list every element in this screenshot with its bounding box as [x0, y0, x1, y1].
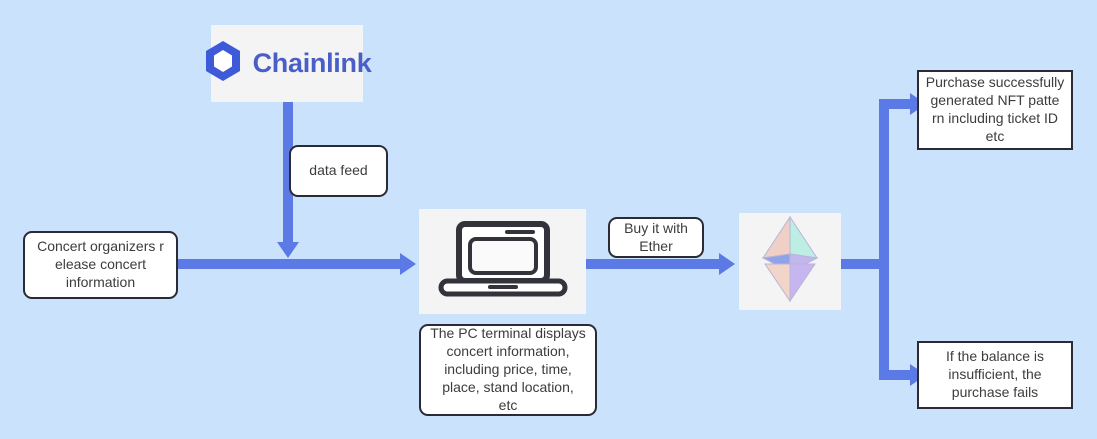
node-data-feed[interactable]: data feed — [289, 145, 388, 197]
pc-terminal-caption-label: The PC terminal displays concert informa… — [430, 325, 586, 415]
edge-pc-to-ethereum — [586, 259, 726, 269]
arrowhead-pc-to-ethereum — [719, 253, 735, 275]
node-buy-with-ether[interactable]: Buy it with Ether — [608, 217, 704, 258]
node-pc-terminal-caption[interactable]: The PC terminal displays concert informa… — [419, 324, 597, 416]
concert-organizers-label: Concert organizers r elease concert info… — [37, 238, 164, 292]
arrowhead-organizers-to-pc — [400, 253, 416, 275]
node-purchase-success[interactable]: Purchase successfully generated NFT patt… — [917, 70, 1073, 150]
edge-organizers-to-pc — [177, 259, 409, 269]
laptop-icon — [437, 220, 569, 303]
arrowhead-chainlink-down — [277, 242, 299, 258]
node-pc-terminal[interactable] — [419, 209, 586, 314]
node-ethereum[interactable] — [739, 213, 841, 310]
buy-with-ether-label: Buy it with Ether — [624, 220, 688, 256]
chainlink-logo-group: Chainlink — [203, 39, 372, 88]
node-concert-organizers[interactable]: Concert organizers r elease concert info… — [23, 231, 178, 299]
chainlink-hexagon-icon — [203, 39, 243, 88]
chainlink-wordmark: Chainlink — [253, 48, 372, 79]
node-purchase-failure[interactable]: If the balance is insufficient, the purc… — [917, 341, 1073, 409]
ethereum-diamond-icon — [761, 216, 819, 307]
node-chainlink[interactable]: Chainlink — [211, 25, 363, 102]
purchase-success-label: Purchase successfully generated NFT patt… — [926, 74, 1065, 146]
data-feed-label: data feed — [309, 162, 367, 180]
edge-branch-vertical — [879, 99, 889, 380]
purchase-failure-label: If the balance is insufficient, the purc… — [946, 348, 1044, 402]
flow-diagram-canvas: Chainlink data feed Concert organizers r… — [0, 0, 1097, 439]
